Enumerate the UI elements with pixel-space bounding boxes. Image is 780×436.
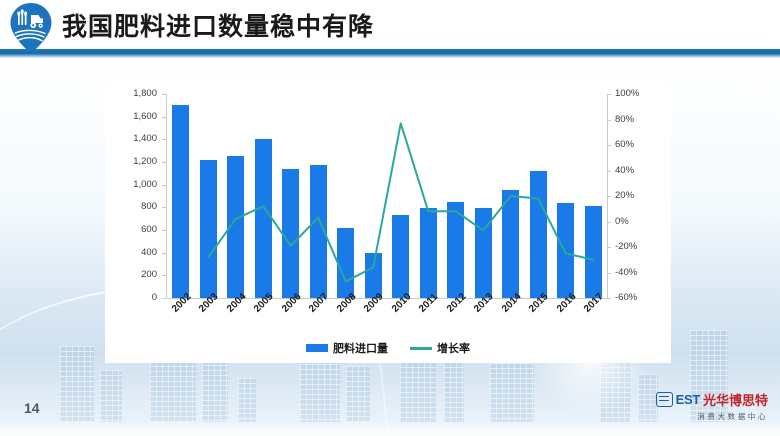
- right-axis-tick-mark: [607, 145, 611, 146]
- fertilizer-import-chart: 02004006008001,0001,2001,4001,6001,800 -…: [105, 83, 671, 363]
- left-axis-tick-label: 200: [105, 270, 157, 280]
- growth-rate-line: [208, 123, 593, 281]
- right-axis-tick-label: 40%: [615, 166, 665, 176]
- chart-legend: 肥料进口量 增长率: [105, 338, 671, 358]
- brand-logo: EST 光华博思特 消费大数据中心: [656, 390, 768, 422]
- right-axis-tick-label: 20%: [615, 191, 665, 201]
- left-axis-tick-mark: [162, 207, 166, 208]
- left-axis-tick-label: 1,200: [105, 157, 157, 167]
- right-axis-tick-label: -40%: [615, 268, 665, 278]
- left-axis-tick-mark: [162, 298, 166, 299]
- right-axis-tick-label: 100%: [615, 89, 665, 99]
- legend-item-line: 增长率: [410, 340, 470, 356]
- left-axis-tick-label: 800: [105, 202, 157, 212]
- left-axis-tick-label: 0: [105, 293, 157, 303]
- right-axis-tick-mark: [607, 94, 611, 95]
- growth-rate-line-series: [167, 94, 607, 298]
- right-axis-tick-label: 60%: [615, 140, 665, 150]
- page-title: 我国肥料进口数量稳中有降: [62, 10, 374, 44]
- slide-body: 02004006008001,0001,2001,4001,6001,800 -…: [0, 58, 780, 436]
- header-divider: [0, 49, 780, 57]
- right-axis-tick-label: -20%: [615, 242, 665, 252]
- left-axis-tick-mark: [162, 162, 166, 163]
- right-axis-tick-label: 0%: [615, 217, 665, 227]
- left-axis-tick-mark: [162, 94, 166, 95]
- left-axis-tick-label: 1,400: [105, 134, 157, 144]
- map-pin-agriculture-icon: [8, 2, 54, 56]
- right-axis-tick-mark: [607, 222, 611, 223]
- right-axis-tick-mark: [607, 298, 611, 299]
- right-axis-tick-mark: [607, 120, 611, 121]
- right-axis-tick-label: 80%: [615, 115, 665, 125]
- right-axis-tick-mark: [607, 273, 611, 274]
- best-monogram-icon: [656, 392, 673, 407]
- slide-header: 我国肥料进口数量稳中有降: [0, 0, 780, 58]
- left-axis-tick-mark: [162, 185, 166, 186]
- right-axis-tick-label: -60%: [615, 293, 665, 303]
- chart-panel: 02004006008001,0001,2001,4001,6001,800 -…: [105, 83, 671, 363]
- left-axis-tick-label: 400: [105, 248, 157, 258]
- legend-line-swatch: [410, 347, 432, 350]
- brand-best-text: EST: [676, 392, 700, 407]
- left-axis-tick-label: 600: [105, 225, 157, 235]
- page-number: 14: [24, 400, 40, 416]
- left-axis-tick-mark: [162, 117, 166, 118]
- right-axis-tick-mark: [607, 196, 611, 197]
- left-axis-tick-label: 1,800: [105, 89, 157, 99]
- left-axis-tick-mark: [162, 230, 166, 231]
- brand-name-text: 光华博思特: [703, 390, 768, 409]
- left-axis-tick-label: 1,000: [105, 180, 157, 190]
- left-axis-tick-mark: [162, 139, 166, 140]
- right-axis-tick-mark: [607, 171, 611, 172]
- skyline-building: [444, 362, 464, 422]
- brand-subtitle: 消费大数据中心: [656, 411, 768, 422]
- left-axis-tick-label: 1,600: [105, 112, 157, 122]
- left-axis-tick-mark: [162, 275, 166, 276]
- legend-bar-label: 肥料进口量: [333, 340, 388, 356]
- right-axis-tick-mark: [607, 247, 611, 248]
- legend-line-label: 增长率: [437, 340, 470, 356]
- left-axis-tick-mark: [162, 253, 166, 254]
- legend-bar-swatch: [306, 344, 328, 352]
- legend-item-bar: 肥料进口量: [306, 340, 388, 356]
- plot-area: [167, 94, 607, 298]
